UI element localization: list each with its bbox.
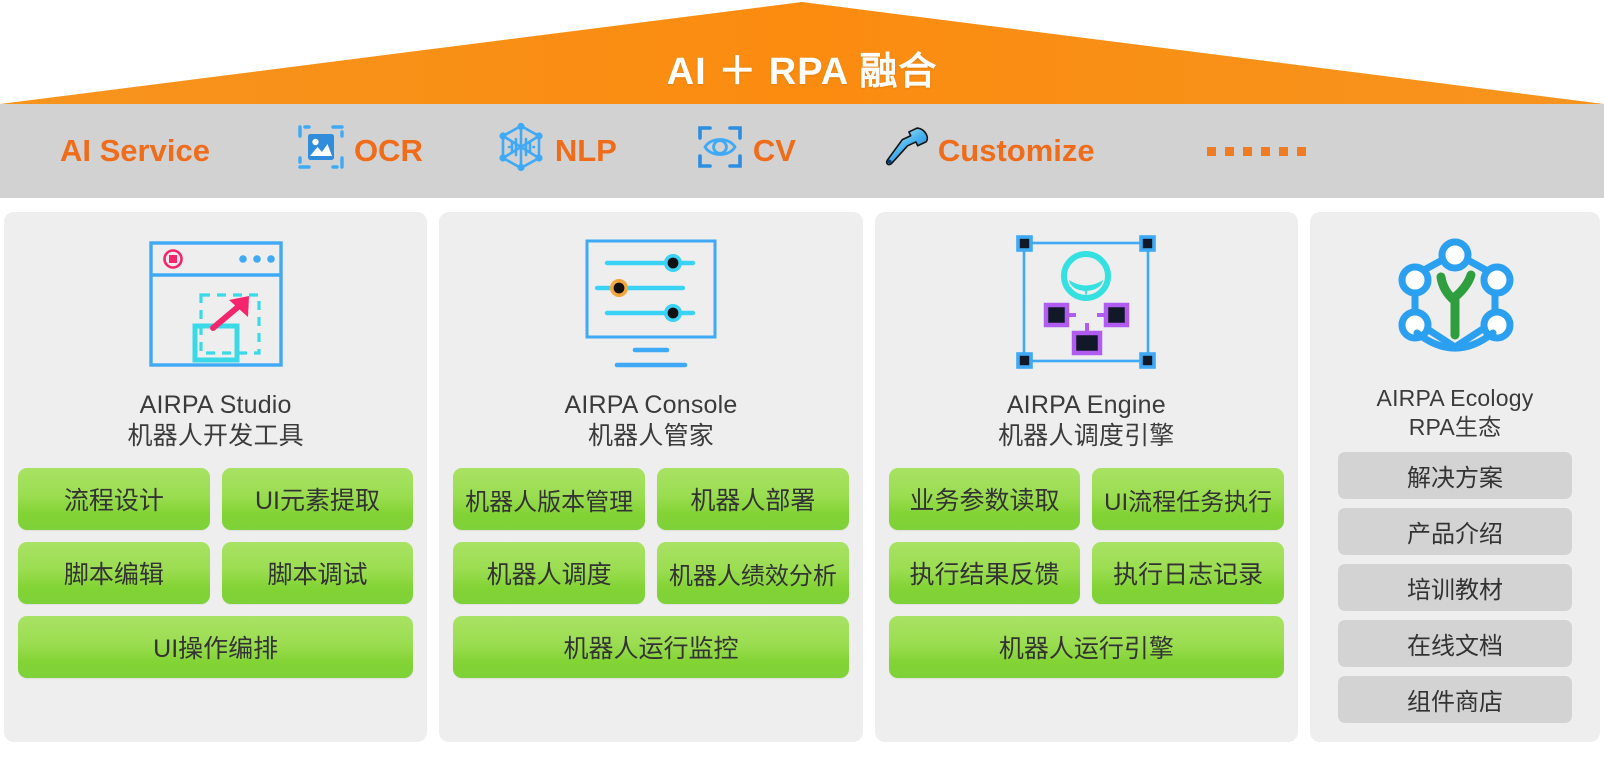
feature-button[interactable]: 执行结果反馈 — [889, 542, 1081, 604]
engine-title: AIRPA Engine 机器人调度引擎 — [998, 390, 1174, 452]
studio-title-en: AIRPA Studio — [140, 391, 292, 419]
ai-service-item-cv[interactable]: CV — [695, 122, 796, 180]
feature-button[interactable]: 机器人调度 — [453, 542, 645, 604]
feature-button[interactable]: 脚本编辑 — [18, 542, 210, 604]
nlp-label: NLP — [555, 133, 617, 169]
ocr-image-scan-icon — [296, 122, 346, 180]
wrench-icon — [880, 121, 930, 181]
cv-eye-scan-icon — [695, 122, 745, 180]
studio-icon-slot — [145, 226, 287, 386]
feature-button[interactable]: UI元素提取 — [222, 468, 414, 530]
feature-button[interactable]: UI流程任务执行 — [1092, 468, 1284, 530]
engine-title-cn: 机器人调度引擎 — [998, 421, 1174, 452]
card-airpa-studio: AIRPA Studio 机器人开发工具 流程设计 UI元素提取 脚本编辑 脚本… — [4, 212, 427, 742]
ecology-network-sprout-icon — [1387, 235, 1523, 376]
card-airpa-engine: AIRPA Engine 机器人调度引擎 业务参数读取 UI流程任务执行 执行结… — [875, 212, 1298, 742]
card-airpa-console: AIRPA Console 机器人管家 机器人版本管理 机器人部署 机器人调度 … — [439, 212, 862, 742]
ai-service-item-customize[interactable]: Customize — [880, 121, 1095, 181]
console-title-cn: 机器人管家 — [564, 421, 737, 452]
console-title: AIRPA Console 机器人管家 — [564, 390, 737, 452]
roof-banner: AI ＋ RPA 融合 — [0, 0, 1604, 104]
ecology-item[interactable]: 产品介绍 — [1338, 508, 1572, 555]
browser-window-select-icon — [145, 233, 287, 380]
ecology-item[interactable]: 组件商店 — [1338, 676, 1572, 723]
console-feature-buttons: 机器人版本管理 机器人部署 机器人调度 机器人绩效分析 机器人运行监控 — [453, 468, 848, 678]
feature-button[interactable]: 机器人运行引擎 — [889, 616, 1284, 678]
engine-icon-slot — [1011, 226, 1161, 386]
card-airpa-ecology: AIRPA Ecology RPA生态 解决方案 产品介绍 培训教材 在线文档 … — [1310, 212, 1600, 742]
ecology-item-list: 解决方案 产品介绍 培训教材 在线文档 组件商店 — [1324, 452, 1586, 723]
feature-button[interactable]: 执行日志记录 — [1092, 542, 1284, 604]
studio-title: AIRPA Studio 机器人开发工具 — [127, 390, 303, 452]
ai-service-item-ocr[interactable]: OCR — [296, 122, 423, 180]
feature-button[interactable]: 脚本调试 — [222, 542, 414, 604]
engine-robot-selection-icon — [1011, 233, 1161, 380]
customize-label: Customize — [938, 133, 1095, 169]
ai-service-label: AI Service — [60, 133, 210, 169]
feature-button[interactable]: 业务参数读取 — [889, 468, 1081, 530]
ecology-item[interactable]: 在线文档 — [1338, 620, 1572, 667]
feature-button[interactable]: UI操作编排 — [18, 616, 413, 678]
engine-title-en: AIRPA Engine — [1007, 391, 1166, 419]
ecology-item[interactable]: 培训教材 — [1338, 564, 1572, 611]
nlp-network-hexagon-icon — [495, 121, 547, 181]
studio-title-cn: 机器人开发工具 — [127, 421, 303, 452]
console-title-en: AIRPA Console — [564, 391, 737, 419]
ocr-label: OCR — [354, 133, 423, 169]
ellipsis-dots-icon — [1207, 147, 1306, 156]
console-sliders-monitor-icon — [575, 233, 727, 380]
ecology-title-cn: RPA生态 — [1377, 413, 1534, 442]
product-cards-row: AIRPA Studio 机器人开发工具 流程设计 UI元素提取 脚本编辑 脚本… — [0, 212, 1604, 742]
feature-button[interactable]: 机器人绩效分析 — [657, 542, 849, 604]
console-icon-slot — [575, 226, 727, 386]
cv-label: CV — [753, 133, 796, 169]
feature-button[interactable]: 机器人版本管理 — [453, 468, 645, 530]
ai-service-bar: AI Service OCR — [0, 104, 1604, 198]
feature-button[interactable]: 机器人运行监控 — [453, 616, 848, 678]
ecology-item[interactable]: 解决方案 — [1338, 452, 1572, 499]
ecology-title-en: AIRPA Ecology — [1377, 385, 1534, 411]
banner-title: AI ＋ RPA 融合 — [0, 0, 1604, 104]
ai-service-item-more[interactable] — [1207, 147, 1306, 156]
ecology-title: AIRPA Ecology RPA生态 — [1377, 384, 1534, 442]
feature-button[interactable]: 机器人部署 — [657, 468, 849, 530]
engine-feature-buttons: 业务参数读取 UI流程任务执行 执行结果反馈 执行日志记录 机器人运行引擎 — [889, 468, 1284, 678]
ai-service-item-nlp[interactable]: NLP — [495, 121, 617, 181]
ecology-icon-slot — [1387, 230, 1523, 380]
studio-feature-buttons: 流程设计 UI元素提取 脚本编辑 脚本调试 UI操作编排 — [18, 468, 413, 678]
feature-button[interactable]: 流程设计 — [18, 468, 210, 530]
ai-service-label-group: AI Service — [60, 133, 210, 169]
